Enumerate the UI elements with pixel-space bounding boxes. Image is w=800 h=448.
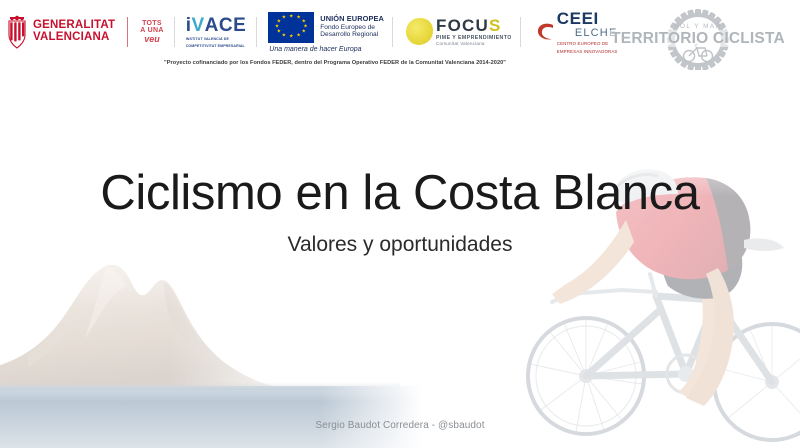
penon-de-ifach-rock-image	[0, 236, 318, 396]
presentation-slide: GENERALITAT VALENCIANA TOTS A UNA veu iV…	[0, 0, 800, 448]
focus-letters-focu: FOCU	[436, 16, 489, 35]
sponsor-logo-bar: GENERALITAT VALENCIANA TOTS A UNA veu iV…	[0, 0, 800, 76]
focus-sub-line2: Comunitat Valenciana	[436, 42, 512, 47]
focus-letter-s: S	[489, 16, 502, 35]
ivace-sub-line2: COMPETITIVITAT EMPRESARIAL	[186, 44, 247, 49]
logo-divider	[174, 17, 175, 47]
generalitat-line2: VALENCIANA	[33, 32, 115, 44]
eu-flag-icon: ★ ★ ★ ★ ★ ★ ★ ★ ★ ★ ★ ★	[268, 12, 314, 43]
focus-blob-icon	[406, 18, 433, 45]
feder-funding-note: "Proyecto cofinanciado por los Fondos FE…	[0, 60, 670, 66]
eu-line2: Fondo Europeo de	[320, 24, 384, 32]
author-credit: Sergio Baudot Corredera - @sbaudot	[0, 420, 800, 431]
generalitat-valenciana-logo: GENERALITAT VALENCIANA TOTS A UNA veu	[6, 15, 164, 49]
ivace-wordmark: iVACE	[186, 16, 247, 35]
slide-title: Ciclismo en la Costa Blanca	[0, 168, 800, 219]
slide-subtitle: Valores y oportunidades	[0, 233, 800, 257]
logo-divider	[520, 17, 521, 47]
ivace-letters-ace: ACE	[205, 16, 247, 35]
ceei-elche-logo: CEEI ELCHE CENTRO EUROPEO DE EMPRESAS IN…	[536, 10, 618, 55]
shoreline	[0, 382, 400, 390]
eu-line1: UNIÓN EUROPEA	[320, 15, 384, 24]
logo-divider	[256, 17, 257, 47]
eu-line3: Desarrollo Regional	[320, 31, 384, 39]
ivace-sub-line1: INSTITUT VALENCIÀ DE	[186, 37, 247, 42]
eu-slogan: Una manera de hacer Europa	[269, 46, 384, 53]
generalitat-wordmark: GENERALITAT VALENCIANA	[33, 20, 115, 43]
sea-image	[0, 386, 430, 448]
ceei-swoosh-icon	[536, 21, 556, 43]
generalitat-shield-icon	[6, 15, 28, 49]
tots-line3: veu	[140, 35, 163, 44]
territorio-wordmark: TERRITORIO CICLISTA	[611, 30, 785, 47]
tots-a-una-veu-slogan: TOTS A UNA veu	[140, 20, 163, 44]
logo-divider	[392, 17, 393, 47]
ivace-logo: iVACE INSTITUT VALENCIÀ DE COMPETITIVITA…	[186, 16, 247, 49]
union-europea-logo: ★ ★ ★ ★ ★ ★ ★ ★ ★ ★ ★ ★ UNIÓN EURO	[268, 12, 384, 53]
tots-line1: TOTS	[140, 20, 163, 27]
eu-wordmark: UNIÓN EUROPEA Fondo Europeo de Desarroll…	[320, 15, 384, 39]
logo-divider	[127, 17, 128, 47]
ivace-letter-v: V	[191, 16, 204, 35]
focus-wordmark: FOCUS	[436, 17, 512, 34]
territorio-inner-word: SOL Y MAR	[674, 23, 722, 30]
focus-pyme-logo: FOCUS PIME Y EMPRENDIMIENTO Comunitat Va…	[406, 17, 512, 46]
